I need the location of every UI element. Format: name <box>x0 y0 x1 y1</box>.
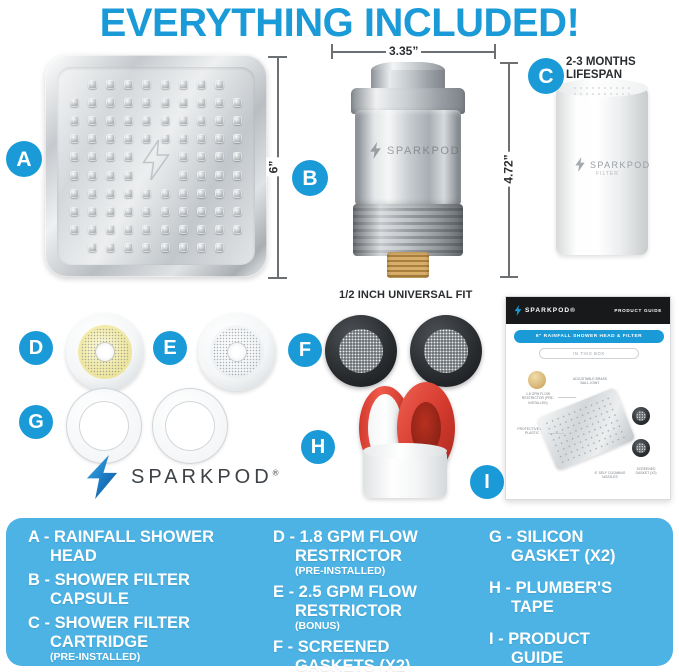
registered-mark: ® <box>273 468 279 477</box>
legend-item-note: (PRE-INSTALLED) <box>28 651 265 663</box>
brand-name-text: SPARKPOD <box>131 466 273 488</box>
guide-leader-line-1 <box>558 397 576 398</box>
product-image-plumbers-tape <box>345 378 465 500</box>
nozzle <box>157 76 174 93</box>
guide-illustration: 1.8 GPM FLOW RESTRICTOR (PRE-INSTALLED) … <box>514 367 664 493</box>
guide-section-pill: IN THIS BOX <box>539 348 639 359</box>
nozzle <box>211 94 228 111</box>
guide-note-right: SCREENED GASKET (X2) <box>630 467 662 476</box>
legend-item-line-2: CARTRIDGE <box>28 633 265 652</box>
nozzle <box>157 203 174 220</box>
nozzle <box>193 185 210 202</box>
nozzle <box>157 112 174 129</box>
nozzle <box>66 148 83 165</box>
capsule-brand-text: SPARKPOD <box>387 145 460 157</box>
legend-item-d: D - 1.8 GPM FLOWRESTRICTOR(PRE-INSTALLED… <box>273 528 477 577</box>
nozzle <box>120 148 137 165</box>
nozzle <box>66 76 83 93</box>
dimension-tick-right <box>494 44 496 59</box>
nozzle <box>175 239 192 256</box>
product-image-silicon-gasket-2 <box>152 388 228 464</box>
nozzle <box>138 185 155 202</box>
legend-item-heading: D - 1.8 GPM FLOW <box>273 528 418 546</box>
nozzle <box>66 112 83 129</box>
legend-column-2: D - 1.8 GPM FLOWRESTRICTOR(PRE-INSTALLED… <box>269 528 481 658</box>
nozzle <box>229 185 246 202</box>
lifespan-label: 2-3 MONTHS LIFESPAN <box>566 56 676 82</box>
legend-item-note: (BONUS) <box>273 620 477 632</box>
caption-universal-fit: 1/2 INCH UNIVERSAL FIT <box>339 289 472 301</box>
lifespan-line-1: 2-3 MONTHS <box>566 56 636 68</box>
nozzle <box>211 239 228 256</box>
legend-item-c: C - SHOWER FILTERCARTRIDGE(PRE-INSTALLED… <box>28 614 265 663</box>
legend-item-i: I - PRODUCTGUIDE <box>489 630 661 667</box>
restrictor-hub <box>228 343 246 361</box>
nozzle <box>102 76 119 93</box>
nozzle <box>193 203 210 220</box>
nozzle <box>120 167 137 184</box>
nozzle <box>211 203 228 220</box>
nozzle <box>66 94 83 111</box>
legend-item-line-2: TAPE <box>489 598 661 617</box>
legend-item-g: G - SILICONGASKET (X2) <box>489 528 661 565</box>
nozzle <box>84 167 101 184</box>
nozzle <box>229 76 246 93</box>
nozzle <box>84 148 101 165</box>
nozzle <box>175 130 192 147</box>
nozzle <box>66 130 83 147</box>
legend-item-heading: E - 2.5 GPM FLOW <box>273 583 417 601</box>
legend-item-heading: A - RAINFALL SHOWER <box>28 528 214 546</box>
legend-item-h: H - PLUMBER'STAPE <box>489 579 661 616</box>
legend-column-3: G - SILICONGASKET (X2)H - PLUMBER'STAPEI… <box>481 528 665 658</box>
nozzle <box>120 221 137 238</box>
dimension-tick-top <box>268 56 287 58</box>
legend-item-line-2: HEAD <box>28 547 265 566</box>
legend-item-heading: F - SCREENED <box>273 638 389 656</box>
infographic-canvas: EVERYTHING INCLUDED! A 6” SPARKPOD <box>0 0 679 672</box>
badge-i: I <box>470 465 504 499</box>
guide-leader-line-2 <box>548 433 564 434</box>
nozzle <box>211 76 228 93</box>
nozzle <box>102 185 119 202</box>
nozzle <box>175 221 192 238</box>
dimension-tick-bottom <box>268 277 287 279</box>
dimension-label-filter-height: 4.72” <box>502 151 516 186</box>
nozzle <box>193 221 210 238</box>
nozzle <box>211 185 228 202</box>
legend-item-note: (PRE-INSTALLED) <box>273 565 477 577</box>
brand-name: SPARKPOD® <box>131 466 279 489</box>
nozzle <box>84 185 101 202</box>
product-image-flow-restrictor-18gpm <box>66 313 144 391</box>
nozzle <box>138 203 155 220</box>
nozzle <box>175 94 192 111</box>
legend-item-e: E - 2.5 GPM FLOWRESTRICTOR(BONUS) <box>273 583 477 632</box>
nozzle <box>229 94 246 111</box>
legend-item-heading: I - PRODUCT <box>489 630 590 648</box>
nozzle <box>211 112 228 129</box>
tape-roll-base <box>363 450 447 498</box>
nozzle <box>66 185 83 202</box>
cartridge-vent-dots <box>572 85 632 99</box>
legend-item-heading: H - PLUMBER'S <box>489 579 612 597</box>
lifespan-line-2: LIFESPAN <box>566 69 622 81</box>
capsule-body: SPARKPOD <box>355 110 461 206</box>
nozzle <box>120 203 137 220</box>
guide-note-bottom: 6" SELF CLEANING NOZZLES <box>592 471 628 480</box>
badge-a: A <box>6 141 42 177</box>
badge-c: C <box>528 58 564 94</box>
lightning-bolt-icon <box>85 455 119 499</box>
legend-item-line-2: GUIDE <box>489 649 661 668</box>
nozzle <box>193 130 210 147</box>
nozzle <box>229 203 246 220</box>
brand-logo: SPARKPOD® <box>85 455 279 499</box>
product-image-rainfall-shower-head <box>45 55 267 277</box>
legend-item-line-2: GASKET (X2) <box>489 547 661 566</box>
nozzle <box>211 167 228 184</box>
nozzle <box>102 221 119 238</box>
badge-f: F <box>288 333 322 367</box>
nozzle <box>102 167 119 184</box>
nozzle <box>138 94 155 111</box>
badge-d: D <box>19 331 53 365</box>
legend-item-a: A - RAINFALL SHOWERHEAD <box>28 528 265 565</box>
restrictor-face <box>78 325 132 379</box>
nozzle <box>84 94 101 111</box>
nozzle <box>193 94 210 111</box>
lightning-bolt-icon <box>514 305 522 316</box>
nozzle <box>229 148 246 165</box>
shower-head-face <box>57 67 255 265</box>
nozzle <box>229 130 246 147</box>
nozzle <box>66 221 83 238</box>
guide-gasket-icon-2 <box>632 439 650 457</box>
lightning-bolt-icon <box>141 140 171 180</box>
guide-banner: 6" RAINFALL SHOWER HEAD & FILTER <box>514 330 664 343</box>
product-image-shower-filter-capsule: SPARKPOD <box>345 62 470 277</box>
legend-item-line-2: GASKETS (X2) <box>273 657 477 672</box>
lightning-bolt-icon <box>369 142 382 159</box>
nozzle <box>120 130 137 147</box>
guide-note-top: ADJUSTABLE BRASS BALL JOINT <box>570 377 610 386</box>
nozzle <box>102 130 119 147</box>
capsule-fins <box>353 204 463 256</box>
nozzle <box>211 148 228 165</box>
badge-b: B <box>292 160 328 196</box>
page-title: EVERYTHING INCLUDED! <box>0 2 679 44</box>
product-image-silicon-gasket-1 <box>66 388 142 464</box>
nozzle <box>193 239 210 256</box>
nozzle <box>175 112 192 129</box>
legend-column-1: A - RAINFALL SHOWERHEADB - SHOWER FILTER… <box>14 528 269 658</box>
guide-gasket-icon-1 <box>632 407 650 425</box>
nozzle <box>102 94 119 111</box>
nozzle <box>229 221 246 238</box>
nozzle <box>211 130 228 147</box>
legend-item-line-2: RESTRICTOR <box>273 547 477 566</box>
nozzle <box>138 239 155 256</box>
nozzle <box>120 185 137 202</box>
legend-item-heading: C - SHOWER FILTER <box>28 614 190 632</box>
legend-item-line-2: RESTRICTOR <box>273 602 477 621</box>
legend-box: A - RAINFALL SHOWERHEADB - SHOWER FILTER… <box>6 518 673 666</box>
nozzle <box>84 112 101 129</box>
nozzle <box>229 239 246 256</box>
legend-item-heading: G - SILICON <box>489 528 583 546</box>
capsule-thread <box>387 252 429 278</box>
restrictor-face <box>210 325 264 379</box>
cartridge-sub-text: FILTER <box>596 171 619 177</box>
cartridge-branding: SPARKPOD <box>574 157 651 172</box>
nozzle <box>175 148 192 165</box>
dimension-label-filter-width: 3.35” <box>386 44 421 58</box>
guide-header: SPARKPOD® PRODUCT GUIDE <box>506 297 670 324</box>
nozzle <box>138 112 155 129</box>
guide-logo: SPARKPOD® <box>514 305 576 316</box>
lightning-bolt-icon <box>574 157 586 172</box>
nozzle <box>229 167 246 184</box>
dimension-label-showerhead-height: 6” <box>266 158 280 177</box>
nozzle <box>175 167 192 184</box>
product-image-screened-gasket-1 <box>325 315 397 387</box>
nozzle <box>120 239 137 256</box>
legend-item-f: F - SCREENEDGASKETS (X2) <box>273 638 477 672</box>
badge-g: G <box>19 405 53 439</box>
nozzle <box>193 148 210 165</box>
nozzle <box>102 112 119 129</box>
nozzle <box>84 239 101 256</box>
product-image-shower-filter-cartridge: SPARKPOD FILTER <box>556 85 648 255</box>
dimension-tick-top-2 <box>500 62 518 64</box>
dimension-tick-bottom-2 <box>500 276 518 278</box>
nozzle <box>84 130 101 147</box>
guide-restrictor-icon <box>528 371 546 389</box>
nozzle <box>120 94 137 111</box>
guide-header-right-text: PRODUCT GUIDE <box>614 308 662 313</box>
legend-item-b: B - SHOWER FILTERCAPSULE <box>28 571 265 608</box>
legend-item-line-2: CAPSULE <box>28 590 265 609</box>
nozzle <box>120 76 137 93</box>
badge-e: E <box>153 331 187 365</box>
nozzle <box>138 76 155 93</box>
nozzle <box>84 221 101 238</box>
badge-h: H <box>301 430 335 464</box>
nozzle <box>157 185 174 202</box>
nozzle <box>175 76 192 93</box>
restrictor-hub <box>96 343 114 361</box>
nozzle <box>102 203 119 220</box>
nozzle <box>157 94 174 111</box>
nozzle <box>102 239 119 256</box>
product-image-product-guide: SPARKPOD® PRODUCT GUIDE 6" RAINFALL SHOW… <box>505 296 671 500</box>
nozzle <box>193 167 210 184</box>
guide-logo-text: SPARKPOD® <box>525 307 576 314</box>
nozzle <box>102 148 119 165</box>
dimension-tick-left <box>331 44 333 59</box>
product-image-screened-gasket-2 <box>410 315 482 387</box>
nozzle <box>211 221 228 238</box>
nozzle <box>157 239 174 256</box>
nozzle <box>66 203 83 220</box>
nozzle <box>175 185 192 202</box>
product-image-flow-restrictor-25gpm <box>198 313 276 391</box>
nozzle <box>120 112 137 129</box>
nozzle <box>193 112 210 129</box>
nozzle <box>157 221 174 238</box>
nozzle <box>66 239 83 256</box>
nozzle <box>229 112 246 129</box>
capsule-branding: SPARKPOD <box>369 142 460 159</box>
nozzle <box>193 76 210 93</box>
nozzle <box>138 221 155 238</box>
cartridge-brand-text: SPARKPOD <box>590 160 651 170</box>
legend-item-heading: B - SHOWER FILTER <box>28 571 190 589</box>
nozzle <box>84 76 101 93</box>
nozzle <box>175 203 192 220</box>
guide-note-coin: 1.8 GPM FLOW RESTRICTOR (PRE-INSTALLED) <box>516 392 560 405</box>
nozzle <box>84 203 101 220</box>
nozzle <box>66 167 83 184</box>
